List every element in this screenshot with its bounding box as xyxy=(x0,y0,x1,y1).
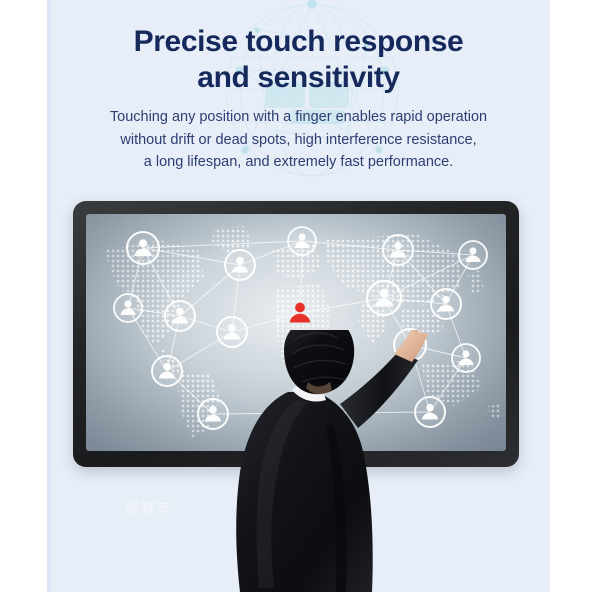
user-node[interactable] xyxy=(367,281,401,315)
chinese-watermark: 超赛车 xyxy=(125,498,173,518)
user-node[interactable] xyxy=(152,356,182,386)
user-node[interactable] xyxy=(127,232,159,264)
title-line-2: and sensitivity xyxy=(47,60,550,96)
page-title: Precise touch response and sensitivity xyxy=(47,24,550,96)
user-node[interactable] xyxy=(225,250,255,280)
body-line-1: Touching any position with a finger enab… xyxy=(47,106,550,129)
promo-page: Precise touch response and sensitivity T… xyxy=(0,0,600,600)
businessman-figure xyxy=(222,330,462,592)
user-node[interactable] xyxy=(431,289,461,319)
user-node[interactable] xyxy=(288,227,316,255)
user-node[interactable] xyxy=(165,301,195,331)
body-copy: Touching any position with a finger enab… xyxy=(47,106,550,174)
user-node[interactable] xyxy=(459,241,487,269)
title-line-1: Precise touch response xyxy=(134,25,464,58)
body-line-3: a long lifespan, and extremely fast perf… xyxy=(47,151,550,174)
body-line-2: without drift or dead spots, high interf… xyxy=(47,129,550,152)
user-node[interactable] xyxy=(114,294,142,322)
content-panel: Precise touch response and sensitivity T… xyxy=(47,0,550,592)
user-node[interactable] xyxy=(383,235,413,265)
